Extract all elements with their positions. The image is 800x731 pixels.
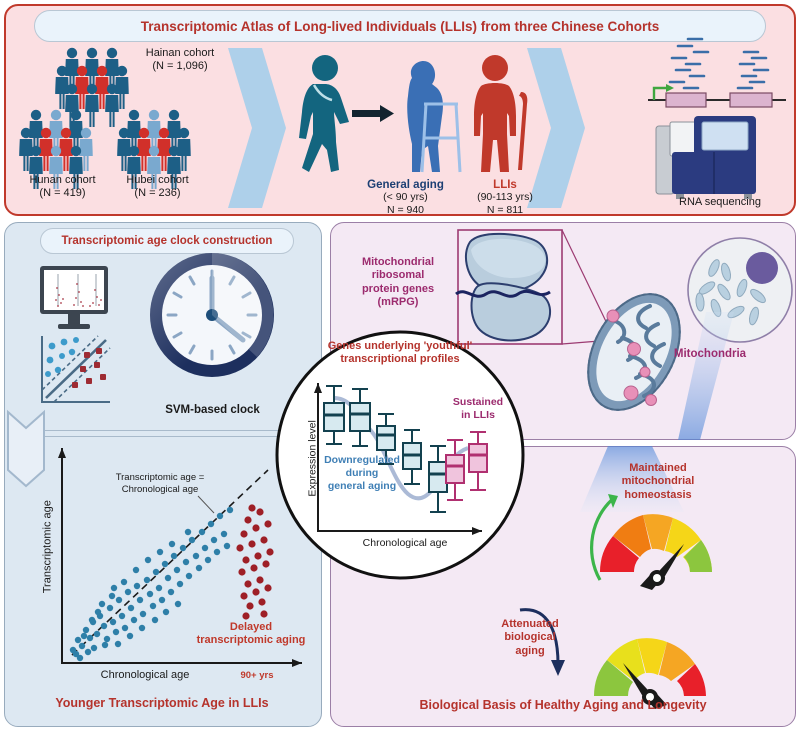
inset-sustained-annotation: Sustained in LLIs bbox=[436, 396, 520, 422]
figure-title-pill: Transcriptomic Atlas of Long-lived Indiv… bbox=[34, 10, 766, 42]
gauge-bottom-label: Attenuated biological aging bbox=[480, 618, 580, 658]
scatter-xlabel: Chronological age bbox=[80, 669, 210, 682]
mitochondria-label: Mitochondria bbox=[650, 347, 770, 361]
lli-label: LLIs bbox=[450, 178, 560, 192]
right-panel-title: Biological Basis of Healthy Aging and Lo… bbox=[346, 698, 780, 713]
left-panel-title: Younger Transcriptomic Age in LLIs bbox=[14, 696, 310, 711]
clock-pill-title: Transcriptomic age clock construction bbox=[40, 228, 294, 254]
inset-xlabel: Chronological age bbox=[340, 537, 470, 550]
general-aging-label: General aging bbox=[348, 178, 463, 192]
delayed-aging-callout: Delayed transcriptomic aging bbox=[186, 621, 316, 648]
mrpg-label: Mitochondrial ribosomal protein genes (m… bbox=[340, 256, 456, 310]
hunan-cohort-label: Hunan cohort (N = 419) bbox=[10, 174, 115, 201]
hubei-cohort-label: Hubei cohort (N = 236) bbox=[105, 174, 210, 201]
inset-downregulated-annotation: Downregulated during general aging bbox=[314, 454, 410, 492]
hainan-cohort-label: Hainan cohort (N = 1,096) bbox=[125, 47, 235, 74]
inset-title: Genes underlying 'youthful' transcriptio… bbox=[310, 340, 490, 367]
scatter-ylabel: Transcriptomic age bbox=[41, 482, 54, 612]
scatter-x-note: 90+ yrs bbox=[222, 670, 292, 682]
gauge-top-label: Maintained mitochondrial homeostasis bbox=[600, 462, 716, 502]
svm-clock-caption: SVM-based clock bbox=[140, 403, 285, 417]
rna-sequencing-label: RNA sequencing bbox=[650, 196, 790, 209]
identity-line-label: Transcriptomic age = Chronological age bbox=[95, 472, 225, 495]
lli-detail: (90-113 yrs) N = 811 bbox=[450, 191, 560, 217]
left-panel-divider bbox=[18, 430, 304, 437]
graphical-abstract: Transcriptomic Atlas of Long-lived Indiv… bbox=[0, 0, 800, 731]
page-title: Transcriptomic Atlas of Long-lived Indiv… bbox=[141, 19, 660, 34]
general-aging-detail: (< 90 yrs) N = 940 bbox=[348, 191, 463, 217]
mitochondria-panel bbox=[330, 222, 796, 440]
